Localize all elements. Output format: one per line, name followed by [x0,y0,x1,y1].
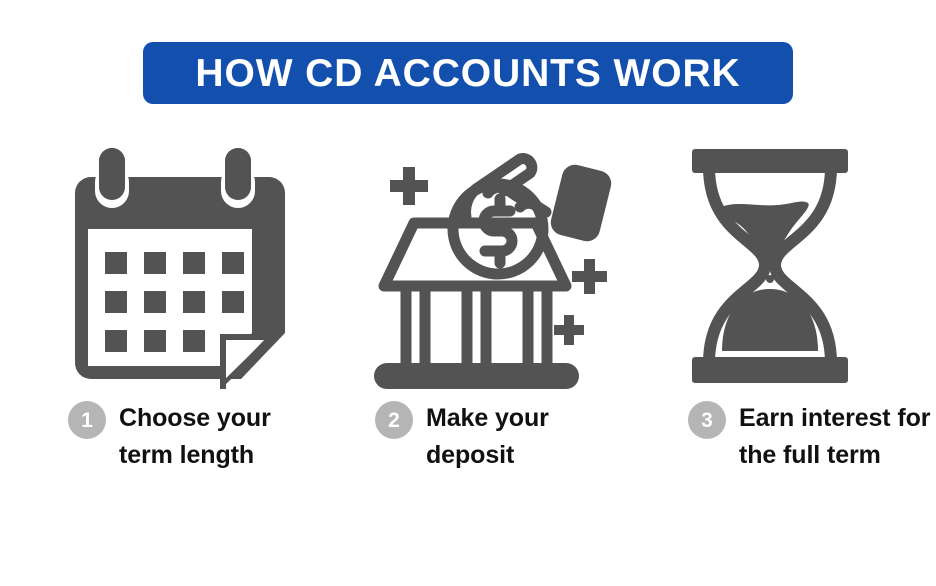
bank-deposit-icon-box [370,145,640,390]
falling-sand-dot [766,275,774,283]
calendar-date-cell [105,252,127,274]
bank-base [374,363,579,389]
hourglass-bottom-bar [692,357,848,383]
card-icon [548,162,614,244]
calendar-date-cell [144,330,166,352]
step-number-badge: 3 [688,401,726,439]
calendar-date-cell [105,291,127,313]
calendar-date-cell [144,291,166,313]
calendar-icon-box [55,145,325,390]
plus-icon [390,167,428,205]
step-number-badge: 2 [375,401,413,439]
hourglass-icon [680,145,890,390]
step-number-badge: 1 [68,401,106,439]
dollar-sign-icon [484,211,512,251]
step-column-2 [370,145,640,390]
calendar-date-cell [144,252,166,274]
infographic-root: HOW CD ACCOUNTS WORK [0,0,936,586]
calendar-date-cell [183,291,205,313]
calendar-date-cell [222,291,244,313]
hourglass-top-bar [692,149,848,173]
page-title: HOW CD ACCOUNTS WORK [195,54,740,93]
step-column-3 [680,145,936,390]
falling-sand-dot [766,289,774,297]
bank-deposit-icon [370,145,625,390]
step-caption-3: 3 Earn interest for the full term [688,400,933,474]
step-caption-2: 2 Make your deposit [375,400,625,474]
calendar-date-cell [183,330,205,352]
step-caption-1: 1 Choose your term length [68,400,318,474]
plus-icon [572,259,607,294]
step-column-1 [55,145,325,390]
step-label: Earn interest for the full term [739,400,933,474]
calendar-date-cell [105,330,127,352]
plus-icon [554,315,584,345]
calendar-date-cell [183,252,205,274]
calendar-ring-left-top [99,148,125,200]
step-label: Make your deposit [426,400,625,474]
bank-columns [406,292,547,370]
calendar-date-cell [222,252,244,274]
calendar-icon [55,145,305,390]
calendar-ring-right-top [225,148,251,200]
title-banner: HOW CD ACCOUNTS WORK [143,42,793,104]
hourglass-icon-box [680,145,936,390]
step-label: Choose your term length [119,400,318,474]
